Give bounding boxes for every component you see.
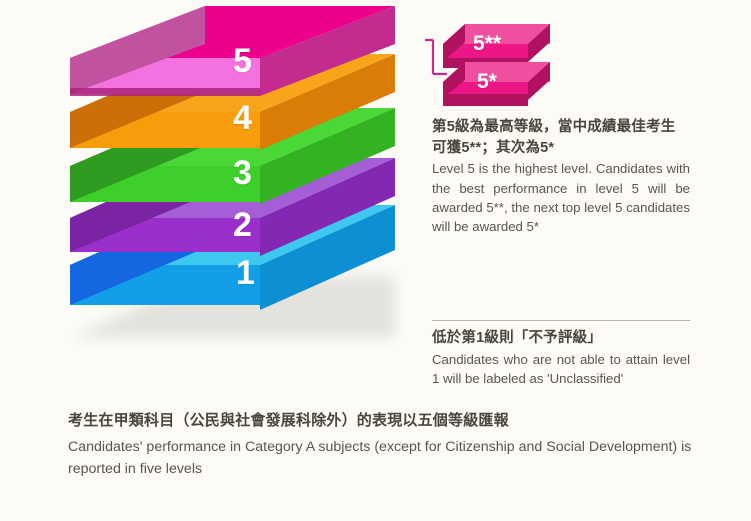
note-unclassified: 低於第1級則「不予評級」 Candidates who are not able… [432,328,690,388]
note-level5-highest: 第5級為最高等級，當中成績最佳考生可獲5**；其次為5* Level 5 is … [432,117,690,237]
level-stack-svg [0,0,420,400]
caption-en: Candidates' performance in Category A su… [68,436,708,480]
badge-5-double-star [443,24,550,68]
note-unclassified-zh: 低於第1級則「不予評級」 [432,328,690,349]
note-level5-zh: 第5級為最高等級，當中成績最佳考生可獲5**；其次為5* [432,117,690,158]
note-unclassified-en: Candidates who are not able to attain le… [432,350,690,389]
infographic-root: 5 4 3 2 1 5* [0,0,751,521]
caption-block: 考生在甲類科目（公民與社會發展科除外）的表現以五個等級匯報 Candidates… [68,410,708,480]
level-stack-graphic: 5 4 3 2 1 [0,0,420,400]
caption-zh: 考生在甲類科目（公民與社會發展科除外）的表現以五個等級匯報 [68,410,708,433]
badge-5-single-star [443,62,550,106]
badges-svg [425,12,585,112]
badge2-bottom-edge [443,94,528,106]
note-level5-en: Level 5 is the highest level. Candidates… [432,159,690,237]
star-grade-badges: 5** 5* [425,12,585,112]
level-5-bottom-edge [70,88,260,96]
note-divider [432,320,690,321]
